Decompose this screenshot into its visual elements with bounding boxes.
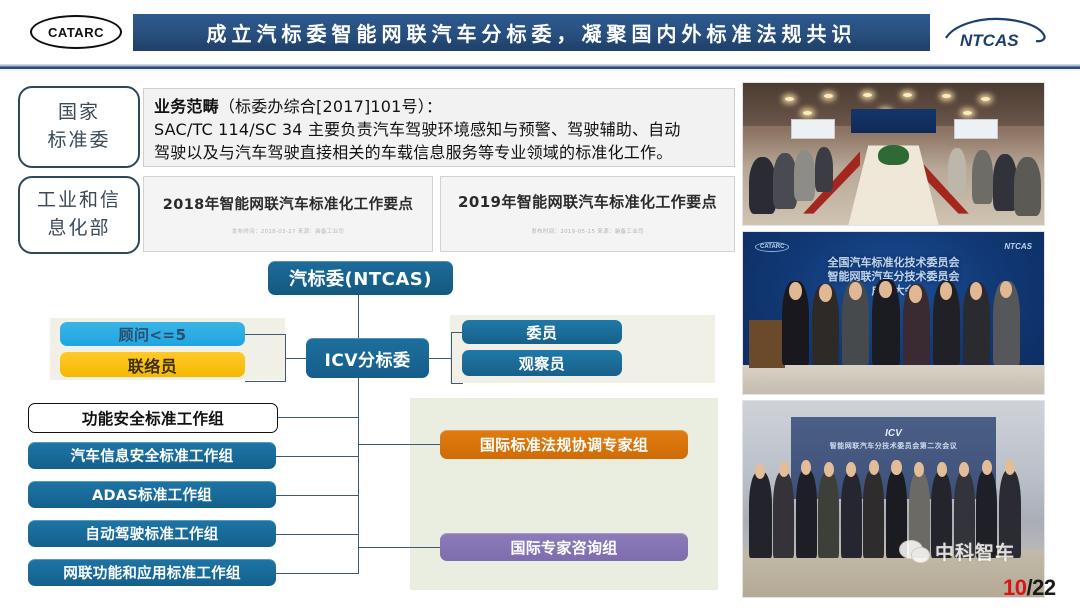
ntcas-logo: NTCAS bbox=[940, 16, 1050, 52]
connector-right-bus bbox=[451, 332, 452, 384]
page-number: 10/22 bbox=[1003, 575, 1056, 601]
connector-observer bbox=[451, 383, 463, 384]
org-node-advisor[interactable]: 顾问<=5 bbox=[60, 322, 245, 346]
connector-advisor bbox=[245, 334, 286, 335]
connector-wg-4 bbox=[276, 573, 359, 574]
org-node-wg-functional-safety[interactable]: 功能安全标准工作组 bbox=[28, 403, 278, 433]
document-meta: 发布时间：2019-05-15 来源：装备工业司 bbox=[441, 227, 734, 235]
pill-line-2: 息化部 bbox=[37, 215, 121, 243]
svg-text:NTCAS: NTCAS bbox=[960, 31, 1019, 50]
icv-backdrop-text: 智能网联汽车分技术委员会第二次会议 bbox=[791, 441, 996, 451]
node-label: ICV分标委 bbox=[325, 346, 411, 371]
node-label: 网联功能和应用标准工作组 bbox=[63, 562, 241, 583]
node-label: ADAS标准工作组 bbox=[92, 484, 212, 505]
node-label: 汽车信息安全标准工作组 bbox=[71, 445, 234, 466]
photo-icv-group: ICV 智能网联汽车分技术委员会第二次会议 bbox=[742, 400, 1045, 598]
watermark: 中科智车 bbox=[900, 538, 1015, 565]
document-card-2019[interactable]: 2019年智能网联汽车标准化工作要点 发布时间：2019-05-15 来源：装备… bbox=[440, 176, 735, 252]
pill-line-1: 工业和信 bbox=[37, 187, 121, 215]
node-label: 观察员 bbox=[519, 353, 566, 374]
pill-line-2: 标准委 bbox=[47, 127, 110, 155]
connector-icv-left bbox=[285, 358, 306, 359]
org-node-observer[interactable]: 观察员 bbox=[462, 350, 622, 376]
photo-establishment-ceremony: CATARC NTCAS 全国汽车标准化技术委员会 智能网联汽车分技术委员会 成… bbox=[742, 231, 1045, 395]
org-national-standards-committee: 国家 标准委 bbox=[18, 86, 140, 168]
scope-heading: 业务范畴 bbox=[154, 97, 219, 116]
connector-left-bus bbox=[285, 334, 286, 382]
connector-icv-right bbox=[429, 358, 451, 359]
photo-conference-hall bbox=[742, 82, 1045, 226]
ntcas-logo: NTCAS bbox=[1004, 242, 1032, 251]
org-node-member[interactable]: 委员 bbox=[462, 320, 622, 344]
page-current: 10 bbox=[1003, 575, 1026, 600]
icv-backdrop-logo: ICV bbox=[791, 428, 996, 439]
organization-chart: 汽标委(NTCAS) ICV分标委 顾问<=5 联络员 委员 观察员 功能安全标… bbox=[10, 258, 735, 598]
document-title: 2018年智能网联汽车标准化工作要点 bbox=[144, 193, 432, 214]
page-title: 成立汽标委智能网联汽车分标委，凝聚国内外标准法规共识 bbox=[207, 18, 857, 47]
node-label: 委员 bbox=[526, 322, 557, 343]
slide-header: CATARC 成立汽标委智能网联汽车分标委，凝聚国内外标准法规共识 NTCAS bbox=[0, 0, 1080, 62]
node-label: 功能安全标准工作组 bbox=[82, 407, 224, 429]
org-miit: 工业和信 息化部 bbox=[18, 176, 140, 254]
connector-icv-trunk bbox=[358, 378, 359, 573]
connector-wg-2 bbox=[276, 495, 359, 496]
org-node-wg-connected-functions[interactable]: 网联功能和应用标准工作组 bbox=[28, 559, 276, 586]
connector-root-to-icv bbox=[358, 295, 359, 339]
slide: CATARC 成立汽标委智能网联汽车分标委，凝聚国内外标准法规共识 NTCAS … bbox=[0, 0, 1080, 608]
wechat-icon bbox=[900, 541, 930, 563]
scope-doc-ref: （标委办综合[2017]101号）： bbox=[219, 97, 442, 116]
org-node-wg-vehicle-cybersecurity[interactable]: 汽车信息安全标准工作组 bbox=[28, 442, 276, 469]
header-divider-secondary bbox=[0, 69, 1080, 71]
node-label: 顾问<=5 bbox=[118, 324, 186, 345]
connector-wg-3 bbox=[276, 534, 359, 535]
node-label: 国际专家咨询组 bbox=[510, 537, 617, 558]
org-node-wg-adas[interactable]: ADAS标准工作组 bbox=[28, 481, 276, 508]
catarc-logo-text: CATARC bbox=[48, 25, 104, 40]
org-node-intl-standards-harmonization[interactable]: 国际标准法规协调专家组 bbox=[440, 430, 688, 459]
business-scope-box: 业务范畴（标委办综合[2017]101号）： SAC/TC 114/SC 34 … bbox=[143, 88, 735, 167]
document-meta: 发布时间：2018-03-27 来源：装备工业司 bbox=[144, 227, 432, 235]
catarc-logo: CATARC bbox=[30, 17, 122, 47]
document-card-2018[interactable]: 2018年智能网联汽车标准化工作要点 发布时间：2018-03-27 来源：装备… bbox=[143, 176, 433, 252]
connector-intl-exp bbox=[358, 547, 441, 548]
catarc-logo: CATARC bbox=[755, 242, 789, 252]
document-title: 2019年智能网联汽车标准化工作要点 bbox=[441, 191, 734, 212]
org-node-icv-subcommittee[interactable]: ICV分标委 bbox=[306, 338, 429, 378]
org-node-intl-expert-advisory[interactable]: 国际专家咨询组 bbox=[440, 533, 688, 561]
scope-body-line-1: SAC/TC 114/SC 34 主要负责汽车驾驶环境感知与预警、驾驶辅助、自动 bbox=[154, 118, 726, 141]
org-node-wg-automated-driving[interactable]: 自动驾驶标准工作组 bbox=[28, 520, 276, 547]
watermark-label: 中科智车 bbox=[935, 538, 1015, 565]
backdrop-line-1: 全国汽车标准化技术委员会 bbox=[767, 256, 1020, 270]
expert-panel-background bbox=[410, 398, 718, 590]
connector-wg-0 bbox=[276, 417, 359, 418]
connector-liaison bbox=[245, 381, 286, 382]
pill-line-1: 国家 bbox=[47, 99, 110, 127]
node-label: 国际标准法规协调专家组 bbox=[480, 434, 648, 455]
scope-body-line-2: 驾驶以及与汽车驾驶直接相关的车载信息服务等专业领域的标准化工作。 bbox=[154, 141, 726, 164]
connector-intl-std bbox=[358, 444, 441, 445]
page-total: 22 bbox=[1032, 575, 1055, 600]
org-node-ntcas[interactable]: 汽标委(NTCAS) bbox=[268, 261, 453, 295]
node-label: 联络员 bbox=[128, 353, 178, 377]
connector-wg-1 bbox=[276, 456, 359, 457]
node-label: 汽标委(NTCAS) bbox=[289, 265, 432, 291]
node-label: 自动驾驶标准工作组 bbox=[85, 523, 218, 544]
slide-title-bar: 成立汽标委智能网联汽车分标委，凝聚国内外标准法规共识 bbox=[133, 14, 930, 51]
org-node-liaison[interactable]: 联络员 bbox=[60, 352, 245, 377]
